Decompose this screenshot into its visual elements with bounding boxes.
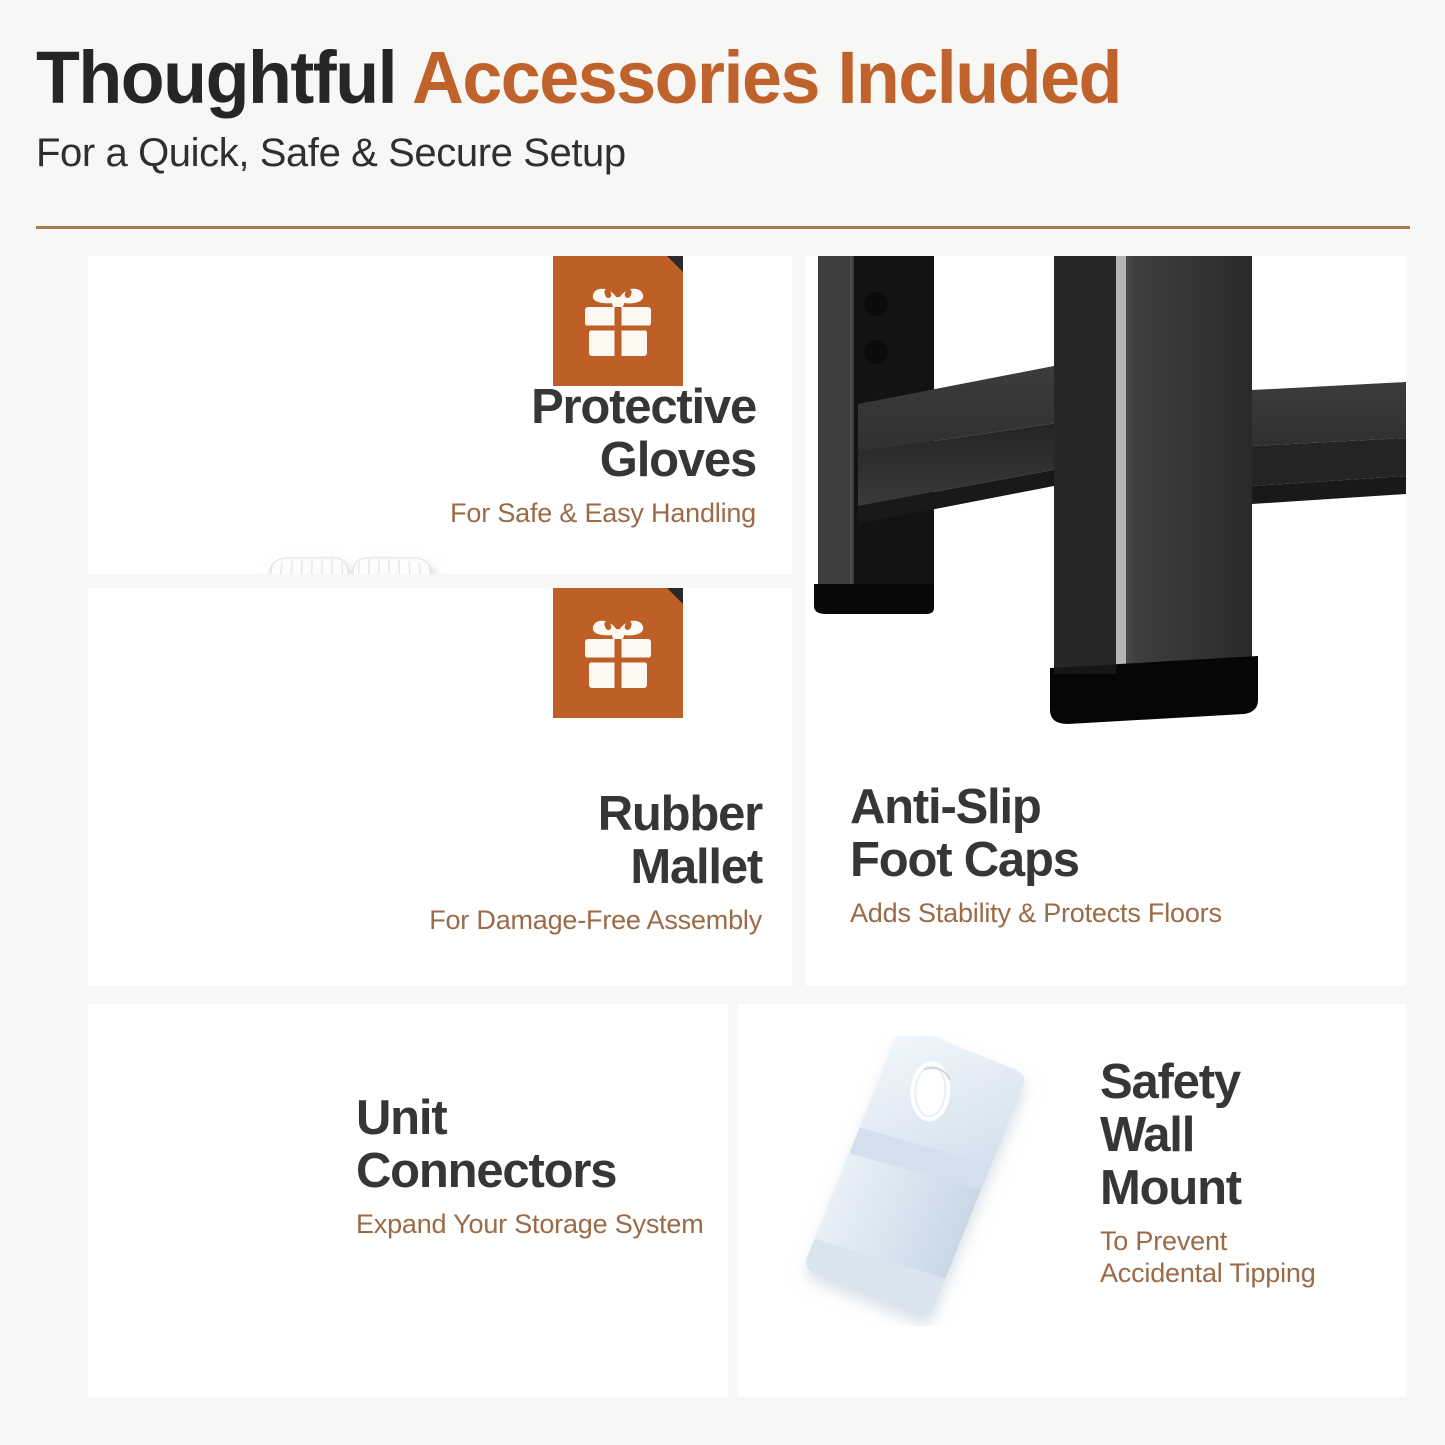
card-unit-connectors-caption: Expand Your Storage System: [356, 1208, 720, 1240]
card-anti-slip-foot-caps-title: Anti-Slip Foot Caps: [850, 781, 1390, 887]
shelf-panel-right: [1252, 382, 1406, 504]
badge-fold-corner: [667, 588, 683, 604]
card-anti-slip-foot-caps-text: Anti-Slip Foot Caps Adds Stability & Pro…: [850, 781, 1390, 929]
card-anti-slip-foot-caps-caption: Adds Stability & Protects Floors: [850, 897, 1390, 929]
badge-fold-corner: [667, 256, 683, 272]
gift-icon: [575, 610, 661, 696]
card-rubber-mallet-title: Rubber Mallet: [406, 788, 762, 894]
card-safety-wall-mount-caption: To Prevent Accidental Tipping: [1100, 1225, 1396, 1290]
card-anti-slip-foot-caps: Anti-Slip Foot Caps Adds Stability & Pro…: [806, 256, 1406, 986]
gift-badge: [553, 256, 683, 386]
front-post: [1050, 256, 1258, 724]
card-rubber-mallet-caption: For Damage-Free Assembly: [406, 904, 762, 936]
card-protective-gloves-title: Protective Gloves: [418, 381, 756, 487]
card-unit-connectors-title: Unit Connectors: [356, 1092, 720, 1198]
card-protective-gloves: Protective Gloves For Safe & Easy Handli…: [88, 256, 792, 574]
card-protective-gloves-caption: For Safe & Easy Handling: [418, 497, 756, 529]
gift-icon: [575, 278, 661, 364]
gift-badge: [553, 588, 683, 718]
white-knit-gloves-image: [196, 544, 506, 574]
card-rubber-mallet: Rubber Mallet For Damage-Free Assembly: [88, 588, 792, 986]
infographic-page: Thoughtful Accessories Included For a Qu…: [0, 0, 1445, 1445]
card-safety-wall-mount-title: Safety Wall Mount: [1100, 1056, 1396, 1215]
feature-card-grid: Protective Gloves For Safe & Easy Handli…: [0, 0, 1445, 1445]
card-safety-wall-mount: Safety Wall Mount To Prevent Accidental …: [738, 1004, 1406, 1397]
card-protective-gloves-text: Protective Gloves For Safe & Easy Handli…: [418, 381, 756, 529]
shelf-foot-caps-image: [806, 256, 1406, 776]
card-rubber-mallet-text: Rubber Mallet For Damage-Free Assembly: [406, 788, 762, 936]
card-safety-wall-mount-text: Safety Wall Mount To Prevent Accidental …: [1100, 1056, 1396, 1290]
wall-mount-bracket-image: [770, 1036, 1070, 1326]
card-unit-connectors: Unit Connectors Expand Your Storage Syst…: [88, 1004, 728, 1397]
card-unit-connectors-text: Unit Connectors Expand Your Storage Syst…: [356, 1092, 720, 1240]
